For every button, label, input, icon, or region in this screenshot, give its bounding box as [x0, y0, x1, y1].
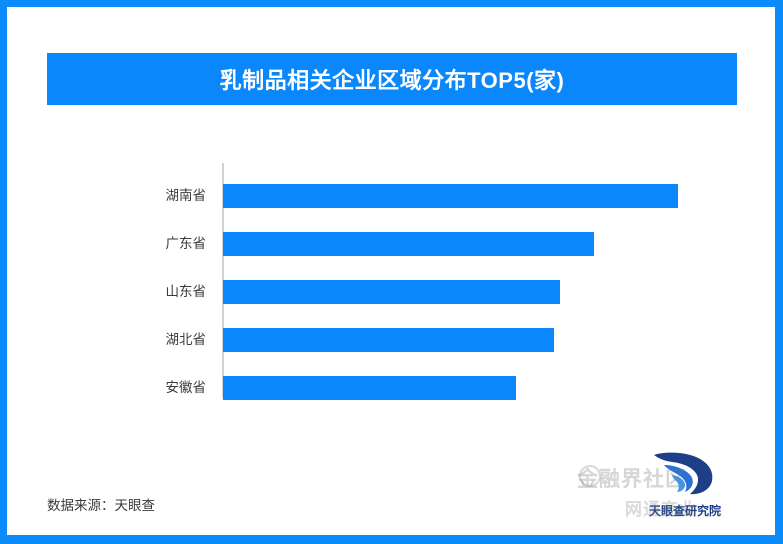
bar-category-label: 广东省	[66, 233, 206, 255]
data-source-note: 数据来源：天眼查	[47, 494, 155, 514]
watermark-circle-icon	[579, 465, 601, 487]
bar-row: 山东省	[7, 280, 775, 304]
page-title: 乳制品相关企业区域分布TOP5(家)	[220, 63, 565, 95]
frame-border-right	[775, 0, 783, 544]
bar-category-label: 湖南省	[66, 185, 206, 207]
eagle-logo-icon	[652, 451, 718, 497]
bar-rect	[223, 232, 594, 256]
frame-border-left	[0, 0, 7, 544]
brand-logo: 天眼查研究院	[630, 451, 740, 523]
bar-row: 湖北省	[7, 328, 775, 352]
frame-border-bottom	[0, 535, 783, 544]
bar-rect	[223, 328, 554, 352]
title-banner: 乳制品相关企业区域分布TOP5(家)	[47, 53, 737, 105]
bar-category-label: 山东省	[66, 281, 206, 303]
chart-card: 乳制品相关企业区域分布TOP5(家) 湖南省 广东省 山东省 湖北省 安徽	[7, 7, 775, 535]
brand-logo-caption: 天眼查研究院	[630, 502, 740, 519]
frame-border-top	[0, 0, 783, 7]
bar-row: 广东省	[7, 232, 775, 256]
bar-rect	[223, 376, 516, 400]
bar-category-label: 安徽省	[66, 377, 206, 399]
bar-row: 安徽省	[7, 376, 775, 400]
bar-rect	[223, 280, 560, 304]
bar-chart: 湖南省 广东省 山东省 湖北省 安徽省	[7, 156, 775, 416]
bar-row: 湖南省	[7, 184, 775, 208]
bar-rect	[223, 184, 678, 208]
bar-category-label: 湖北省	[66, 329, 206, 351]
chart-infographic-canvas: 乳制品相关企业区域分布TOP5(家) 湖南省 广东省 山东省 湖北省 安徽	[0, 0, 783, 544]
